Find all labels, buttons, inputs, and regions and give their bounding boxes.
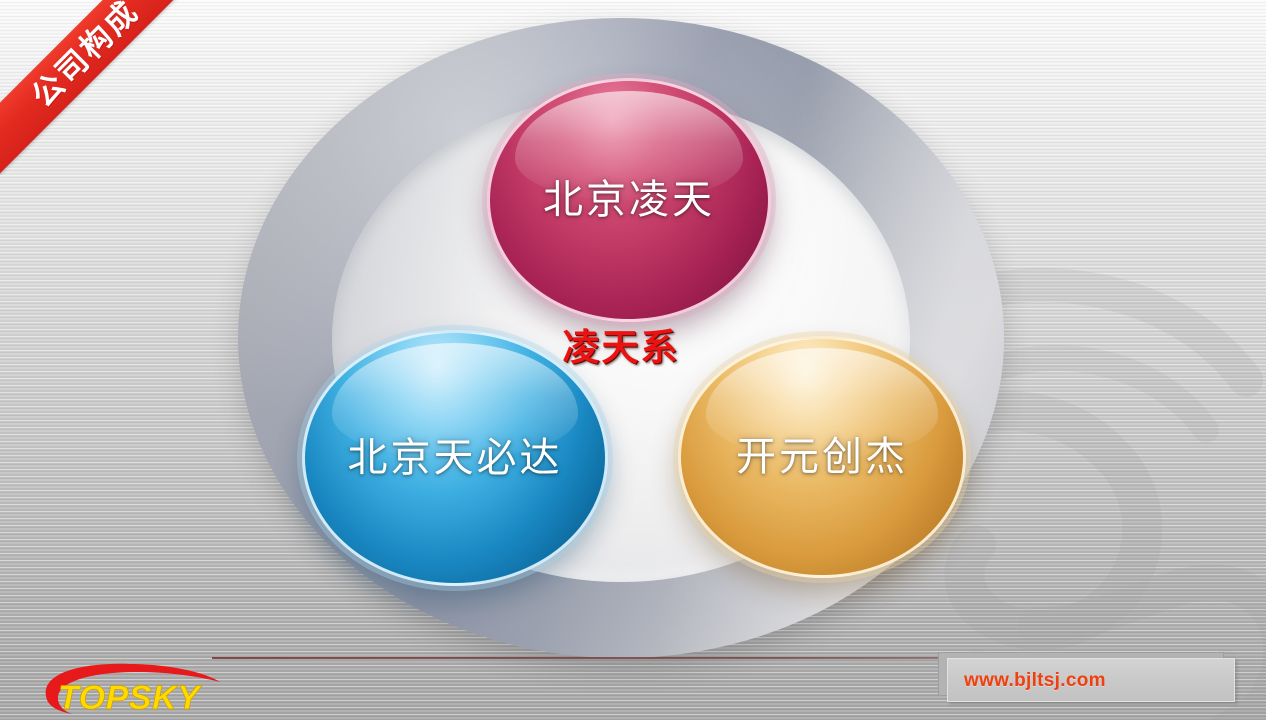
website-url-text: www.bjltsj.com <box>964 671 1106 690</box>
ribbon-band: 公司构成 <box>0 0 200 175</box>
ribbon-label: 公司构成 <box>26 0 144 112</box>
topsky-logo: TOPSKY <box>34 660 230 718</box>
logo-wordmark: TOPSKY <box>58 679 203 717</box>
node-beijing-lingtian[interactable]: 北京凌天 <box>487 78 771 322</box>
website-url-plate[interactable]: www.bjltsj.com <box>938 652 1234 700</box>
node-label: 北京凌天 <box>543 180 715 220</box>
node-label: 开元创杰 <box>736 437 908 477</box>
node-kaiyuan-chuangjie[interactable]: 开元创杰 <box>678 336 966 578</box>
url-plate-face: www.bjltsj.com <box>947 658 1235 702</box>
node-label: 北京天必达 <box>348 438 563 478</box>
company-structure-diagram: 北京凌天 北京天必达 开元创杰 凌天系 <box>238 18 1004 658</box>
slide-canvas: 公司构成 北京凌天 北京天必达 开元创杰 凌天系 TOPS <box>0 0 1266 720</box>
diagram-center-label: 凌天系 <box>529 330 713 367</box>
corner-ribbon: 公司构成 <box>0 0 200 175</box>
